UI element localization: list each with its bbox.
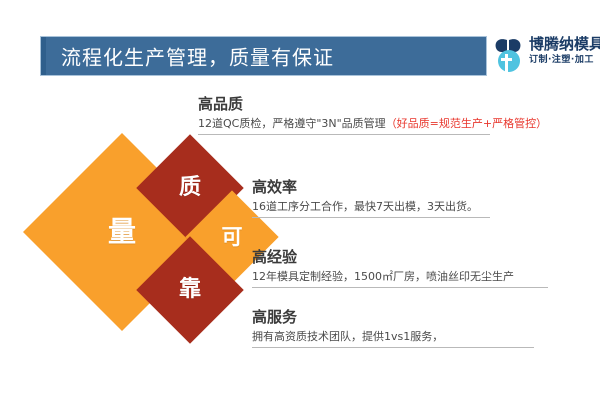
header-left-accent — [41, 37, 46, 75]
feature-desc: 16道工序分工合作，最快7天出模，3天出货。 — [252, 199, 490, 215]
feature-block-efficiency: 高效率 16道工序分工合作，最快7天出模，3天出货。 — [252, 178, 490, 218]
feature-underline — [252, 287, 548, 288]
feature-block-quality: 高品质 12道QC质检，严格遵守"3N"品质管理（好品质=规范生产+严格管控） — [198, 95, 547, 135]
feature-title: 高效率 — [252, 178, 490, 196]
slide-canvas: 流程化生产管理，质量有保证 博腾纳模具 订制·注塑·加工 量 质 可 靠 高品质… — [0, 0, 600, 400]
logo-company-name: 博腾纳模具 — [529, 35, 600, 53]
diamond-ke-label: 可 — [222, 227, 243, 248]
feature-title: 高品质 — [198, 95, 547, 113]
feature-title: 高经验 — [252, 248, 548, 266]
feature-desc: 12年模具定制经验，1500㎡厂房，喷油丝印无尘生产 — [252, 269, 548, 285]
header-bar: 流程化生产管理，质量有保证 — [40, 36, 487, 76]
feature-underline — [252, 217, 490, 218]
butterfly-logo-icon — [493, 37, 527, 73]
diamond-zhi-label: 质 — [179, 177, 201, 199]
page-title: 流程化生产管理，质量有保证 — [61, 42, 334, 71]
company-logo: 博腾纳模具 订制·注塑·加工 — [493, 33, 597, 77]
diamond-liang-label: 量 — [108, 218, 136, 246]
feature-desc-text: 拥有高资质技术团队，提供1vs1服务， — [252, 330, 443, 343]
feature-block-service: 高服务 拥有高资质技术团队，提供1vs1服务， — [252, 308, 534, 348]
feature-desc-text: 16道工序分工合作，最快7天出模，3天出货。 — [252, 200, 478, 213]
logo-tagline: 订制·注塑·加工 — [529, 54, 600, 67]
feature-desc-text: 12年模具定制经验，1500㎡厂房，喷油丝印无尘生产 — [252, 270, 514, 283]
feature-underline — [198, 134, 490, 135]
feature-desc: 12道QC质检，严格遵守"3N"品质管理（好品质=规范生产+严格管控） — [198, 116, 547, 132]
feature-underline — [252, 347, 534, 348]
logo-text: 博腾纳模具 订制·注塑·加工 — [529, 35, 600, 67]
feature-desc: 拥有高资质技术团队，提供1vs1服务， — [252, 329, 534, 345]
feature-desc-text: 12道QC质检，严格遵守"3N"品质管理 — [198, 117, 386, 130]
feature-desc-highlight: （好品质=规范生产+严格管控） — [386, 117, 547, 130]
diamond-kao-label: 靠 — [179, 279, 201, 301]
feature-block-experience: 高经验 12年模具定制经验，1500㎡厂房，喷油丝印无尘生产 — [252, 248, 548, 288]
feature-title: 高服务 — [252, 308, 534, 326]
